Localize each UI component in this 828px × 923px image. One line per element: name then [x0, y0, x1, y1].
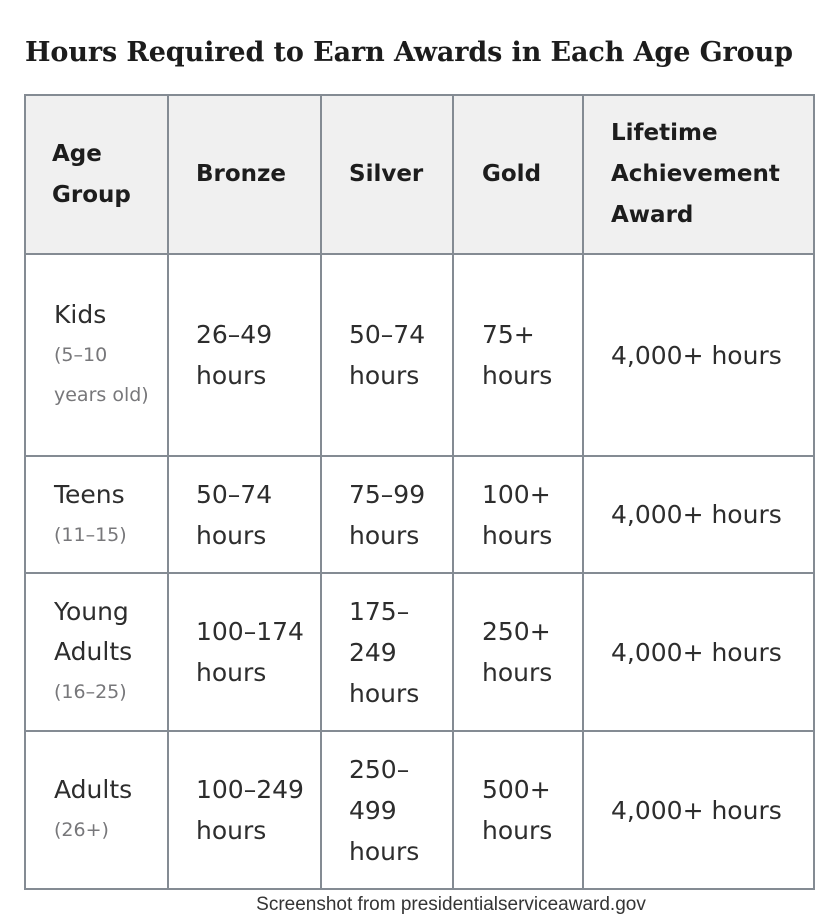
cell-age-group: Kids (5–10 years old)	[25, 254, 168, 456]
silver-value: 50–74 hours	[349, 314, 440, 396]
cell-bronze: 50–74 hours	[168, 456, 321, 573]
cell-bronze: 100–249 hours	[168, 731, 321, 889]
table-row: Kids (5–10 years old) 26–49 hours 50–74 …	[25, 254, 814, 456]
column-header-lifetime-achievement-award: Lifetime Achievement Award	[583, 95, 814, 254]
age-group-range: (5–10 years old)	[54, 335, 157, 415]
gold-value: 250+ hours	[482, 611, 570, 693]
cell-silver: 250–499 hours	[321, 731, 453, 889]
lifetime-value: 4,000+ hours	[611, 335, 801, 376]
table-row: Teens (11–15) 50–74 hours 75–99 hours 10…	[25, 456, 814, 573]
table-header: Age Group Bronze Silver Gold Lifetime Ac…	[25, 95, 814, 254]
cell-bronze: 26–49 hours	[168, 254, 321, 456]
awards-table-container: Age Group Bronze Silver Gold Lifetime Ac…	[24, 94, 813, 890]
cell-gold: 500+ hours	[453, 731, 583, 889]
column-header-silver: Silver	[321, 95, 453, 254]
cell-age-group: Adults (26+)	[25, 731, 168, 889]
cell-lifetime: 4,000+ hours	[583, 573, 814, 731]
bronze-value: 26–49 hours	[196, 314, 308, 396]
cell-lifetime: 4,000+ hours	[583, 731, 814, 889]
age-group-name: Kids	[54, 295, 157, 335]
gold-value: 100+ hours	[482, 474, 570, 556]
lifetime-value: 4,000+ hours	[611, 494, 801, 535]
gold-value: 500+ hours	[482, 769, 570, 851]
page-title: Hours Required to Earn Awards in Each Ag…	[25, 36, 793, 70]
age-group-range: (26+)	[54, 810, 157, 850]
table-body: Kids (5–10 years old) 26–49 hours 50–74 …	[25, 254, 814, 889]
gold-value: 75+ hours	[482, 314, 570, 396]
cell-silver: 50–74 hours	[321, 254, 453, 456]
cell-bronze: 100–174 hours	[168, 573, 321, 731]
age-group-range: (16–25)	[54, 672, 157, 712]
bronze-value: 100–174 hours	[196, 611, 308, 693]
table-header-row: Age Group Bronze Silver Gold Lifetime Ac…	[25, 95, 814, 254]
silver-value: 75–99 hours	[349, 474, 440, 556]
page-root: Hours Required to Earn Awards in Each Ag…	[0, 0, 828, 923]
cell-gold: 75+ hours	[453, 254, 583, 456]
source-caption: Screenshot from presidentialserviceaward…	[0, 893, 828, 917]
silver-value: 250–499 hours	[349, 749, 440, 872]
cell-age-group: Teens (11–15)	[25, 456, 168, 573]
cell-silver: 175–249 hours	[321, 573, 453, 731]
age-group-name: Adults	[54, 770, 157, 810]
cell-gold: 100+ hours	[453, 456, 583, 573]
lifetime-value: 4,000+ hours	[611, 632, 801, 673]
cell-lifetime: 4,000+ hours	[583, 456, 814, 573]
lifetime-value: 4,000+ hours	[611, 790, 801, 831]
bronze-value: 100–249 hours	[196, 769, 308, 851]
cell-age-group: Young Adults (16–25)	[25, 573, 168, 731]
table-row: Young Adults (16–25) 100–174 hours 175–2…	[25, 573, 814, 731]
awards-table: Age Group Bronze Silver Gold Lifetime Ac…	[24, 94, 815, 890]
column-header-age-group: Age Group	[25, 95, 168, 254]
bronze-value: 50–74 hours	[196, 474, 308, 556]
age-group-name: Teens	[54, 475, 157, 515]
age-group-name: Young Adults	[54, 592, 157, 672]
column-header-bronze: Bronze	[168, 95, 321, 254]
cell-gold: 250+ hours	[453, 573, 583, 731]
age-group-range: (11–15)	[54, 515, 157, 555]
column-header-gold: Gold	[453, 95, 583, 254]
table-row: Adults (26+) 100–249 hours 250–499 hours…	[25, 731, 814, 889]
silver-value: 175–249 hours	[349, 591, 440, 714]
cell-silver: 75–99 hours	[321, 456, 453, 573]
cell-lifetime: 4,000+ hours	[583, 254, 814, 456]
